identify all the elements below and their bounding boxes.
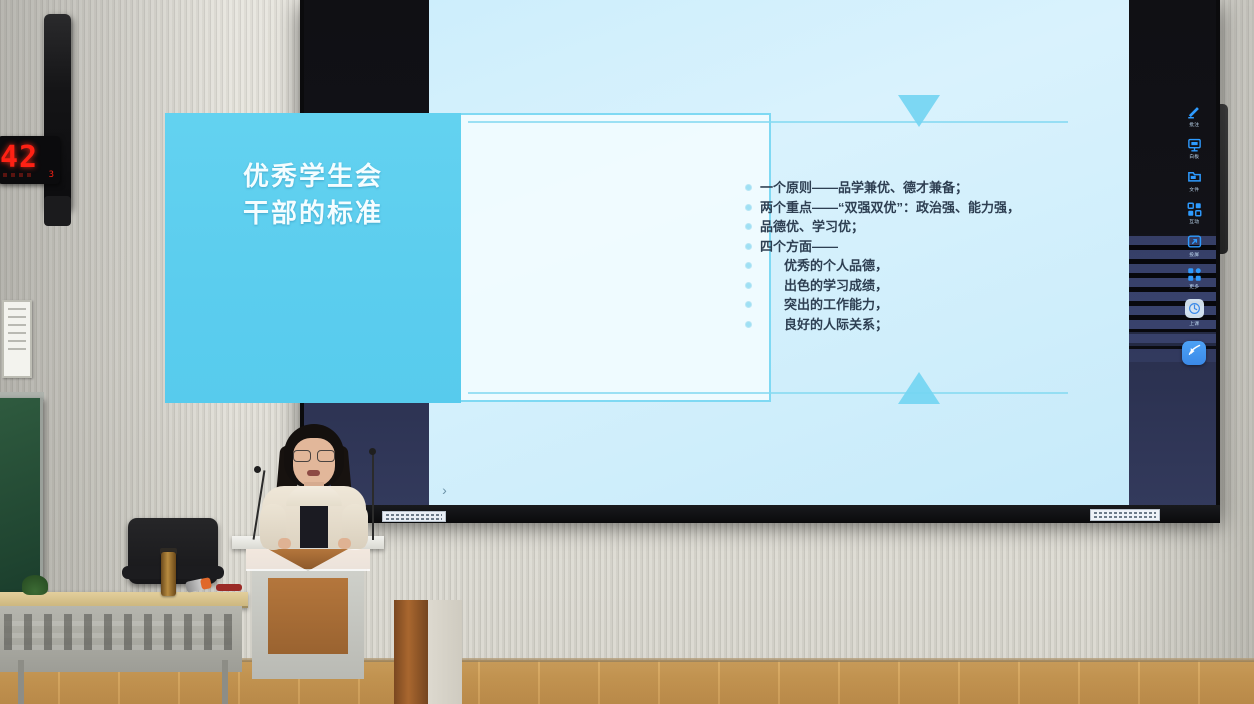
- slide-bullet-text: 四个方面——: [760, 237, 838, 257]
- slide-bullet-item: 优秀的个人品德，: [746, 256, 1076, 276]
- slide-next-arrow-button[interactable]: ›: [436, 482, 453, 499]
- wall-pillar: [428, 600, 462, 704]
- microphone-head: [254, 466, 261, 473]
- wooden-pillar: [394, 600, 430, 704]
- framed-notice: [2, 300, 32, 378]
- triangle-up-decoration: [898, 372, 940, 404]
- microphone-head: [369, 448, 376, 455]
- marker-pen-cap: [200, 577, 212, 590]
- presenter-face: [293, 438, 335, 487]
- desk-leg: [18, 660, 24, 704]
- bullet-dot-icon: [746, 185, 751, 190]
- slide-bullet-item: 出色的学习成绩，: [746, 276, 1076, 296]
- slide-bullet-list: 一个原则——品学兼优、德才兼备；两个重点——“双强双优”：政治强、能力强，品德优…: [746, 178, 1076, 334]
- clock-indicator-dots: [3, 173, 33, 177]
- slide-bullet-item: 四个方面——: [746, 237, 1076, 257]
- presenter-glasses: [293, 450, 335, 460]
- cast-screen-icon: [1187, 234, 1202, 249]
- slide-bullet-text: 良好的人际关系；: [760, 315, 888, 335]
- slide-bullet-item: 一个原则——品学兼优、德才兼备；: [746, 178, 1076, 198]
- microphone-stem: [372, 452, 374, 540]
- bullet-dot-icon: [746, 283, 751, 288]
- toolbar-item-label: 批注: [1189, 121, 1199, 128]
- slide-bullet-text: 突出的工作能力，: [760, 295, 888, 315]
- toolbar-item-label: 白板: [1189, 153, 1199, 160]
- slide-title-line-1: 优秀学生会: [170, 158, 456, 195]
- slide-bullet-text: 出色的学习成绩，: [760, 276, 888, 296]
- slide-title-panel: [165, 113, 461, 403]
- display-side-toolbar[interactable]: 批注白板文件互动投屏更多上课: [1178, 104, 1210, 365]
- toolbar-item-label: 文件: [1189, 186, 1199, 193]
- slide-title: 优秀学生会 干部的标准: [170, 158, 456, 232]
- toolbar-item-label: 上课: [1189, 320, 1199, 327]
- toolbar-item-互动[interactable]: 互动: [1178, 202, 1210, 226]
- podium-wood-panel: [268, 578, 348, 654]
- bullet-dot-icon: [746, 224, 751, 229]
- presenter-coat-collar: [286, 486, 342, 506]
- bullet-dot-icon: [746, 302, 751, 307]
- toolbar-action-button[interactable]: [1182, 341, 1206, 365]
- media-play-icon: [1187, 343, 1202, 363]
- whiteboard-icon: [1187, 137, 1202, 152]
- slide-bullet-item: 两个重点——“双强双优”：政治强、能力强，: [746, 198, 1076, 218]
- slide-divider-bottom: [468, 392, 1068, 394]
- wall-speaker-left-lower: [44, 196, 71, 226]
- toolbar-item-批注[interactable]: 批注: [1178, 104, 1210, 128]
- toolbar-item-label: 更多: [1189, 283, 1199, 290]
- bezel-label-right: [1090, 509, 1160, 521]
- toolbar-item-更多[interactable]: 更多: [1178, 267, 1210, 291]
- presenter-person: [262, 424, 366, 548]
- bullet-dot-icon: [746, 205, 751, 210]
- red-object-on-desk: [216, 584, 242, 591]
- presenter-mouth: [307, 470, 320, 476]
- presenter-hand-left: [278, 538, 291, 549]
- slide-bullet-item: 品德优、学习优；: [746, 217, 1076, 237]
- desk-leg: [222, 660, 228, 704]
- slide-title-line-2: 干部的标准: [170, 195, 456, 232]
- bullet-dot-icon: [746, 244, 751, 249]
- class-start-icon: [1185, 299, 1204, 318]
- presenter-hand-right: [338, 538, 351, 549]
- toolbar-item-上课[interactable]: 上课: [1178, 299, 1210, 327]
- slide-bullet-text: 一个原则——品学兼优、德才兼备；: [760, 178, 968, 198]
- interact-qr-icon: [1187, 202, 1202, 217]
- clock-digits: 42: [0, 140, 38, 175]
- toolbar-item-投屏[interactable]: 投屏: [1178, 234, 1210, 258]
- slide-bullet-item: 良好的人际关系；: [746, 315, 1076, 335]
- more-apps-icon: [1187, 267, 1202, 282]
- bullet-dot-icon: [746, 322, 751, 327]
- slide-bullet-item: 突出的工作能力，: [746, 295, 1076, 315]
- slide-content-panel: [461, 113, 771, 402]
- clock-subdigit: 3: [49, 170, 54, 180]
- slide-divider-top: [468, 121, 1068, 123]
- lecture-hall-screenshot: 42 3 优秀学生会 干部的标准 一个原则——品学兼优、德才兼备；两个重点——“…: [0, 0, 1254, 704]
- triangle-down-decoration: [898, 95, 940, 127]
- led-digital-clock: 42 3: [0, 136, 60, 184]
- toolbar-item-label: 互动: [1189, 218, 1199, 225]
- bezel-label-left: [382, 511, 446, 522]
- toolbar-item-文件[interactable]: 文件: [1178, 169, 1210, 193]
- folder-file-icon: [1187, 169, 1202, 184]
- small-plant: [22, 575, 48, 595]
- desk-vent-grille: [4, 614, 232, 650]
- toolbar-item-label: 投屏: [1189, 251, 1199, 258]
- slide-bullet-text: 两个重点——“双强双优”：政治强、能力强，: [760, 198, 1020, 218]
- slide-bullet-text: 品德优、学习优；: [760, 217, 864, 237]
- toolbar-item-白板[interactable]: 白板: [1178, 137, 1210, 161]
- thermos-bottle: [161, 552, 176, 596]
- slide-bullet-text: 优秀的个人品德，: [760, 256, 888, 276]
- pen-annotate-icon: [1187, 104, 1202, 119]
- bullet-dot-icon: [746, 263, 751, 268]
